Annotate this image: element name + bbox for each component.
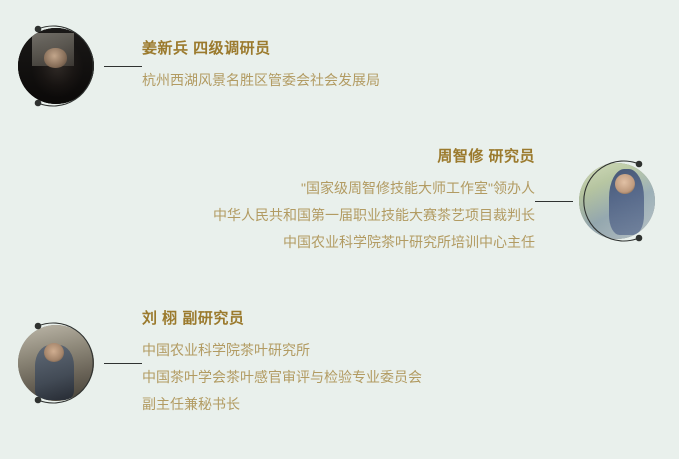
decorative-arc-icon [12, 20, 104, 112]
avatar-liu-xu [12, 317, 104, 409]
person-info: 刘 栩 副研究员 中国农业科学院茶叶研究所 中国茶叶学会茶叶感官审评与检验专业委… [142, 308, 422, 418]
person-detail-line: 中国农业科学院茶叶研究所培训中心主任 [283, 229, 535, 256]
connector-line [104, 363, 142, 364]
avatar-jiang-xinbing [12, 20, 104, 112]
person-detail-line: "国家级周智修技能大师工作室"领办人 [301, 175, 535, 202]
person-name: 周智修 研究员 [437, 146, 535, 169]
person-detail-line: 副主任兼秘书长 [142, 391, 240, 418]
person-info: 周智修 研究员 "国家级周智修技能大师工作室"领办人 中华人民共和国第一届职业技… [213, 146, 535, 256]
connector-line [535, 201, 573, 202]
person-card-jiang-xinbing: 姜新兵 四级调研员 杭州西湖风景名胜区管委会社会发展局 [12, 20, 380, 112]
decorative-arc-icon [12, 317, 104, 409]
person-detail-line: 中华人民共和国第一届职业技能大赛茶艺项目裁判长 [213, 202, 535, 229]
person-name: 姜新兵 四级调研员 [142, 38, 271, 61]
person-card-liu-xu: 刘 栩 副研究员 中国农业科学院茶叶研究所 中国茶叶学会茶叶感官审评与检验专业委… [12, 308, 422, 418]
person-info: 姜新兵 四级调研员 杭州西湖风景名胜区管委会社会发展局 [142, 38, 380, 94]
person-name: 刘 栩 副研究员 [142, 308, 244, 331]
person-detail-line: 中国茶叶学会茶叶感官审评与检验专业委员会 [142, 364, 422, 391]
person-detail-line: 中国农业科学院茶叶研究所 [142, 337, 310, 364]
speakers-panel: 姜新兵 四级调研员 杭州西湖风景名胜区管委会社会发展局 周智修 研究员 "国家级… [0, 0, 679, 459]
person-card-zhou-zhixiu: 周智修 研究员 "国家级周智修技能大师工作室"领办人 中华人民共和国第一届职业技… [213, 146, 665, 256]
person-detail-line: 杭州西湖风景名胜区管委会社会发展局 [142, 67, 380, 94]
avatar-zhou-zhixiu [573, 155, 665, 247]
decorative-arc-icon [573, 155, 665, 247]
connector-line [104, 66, 142, 67]
